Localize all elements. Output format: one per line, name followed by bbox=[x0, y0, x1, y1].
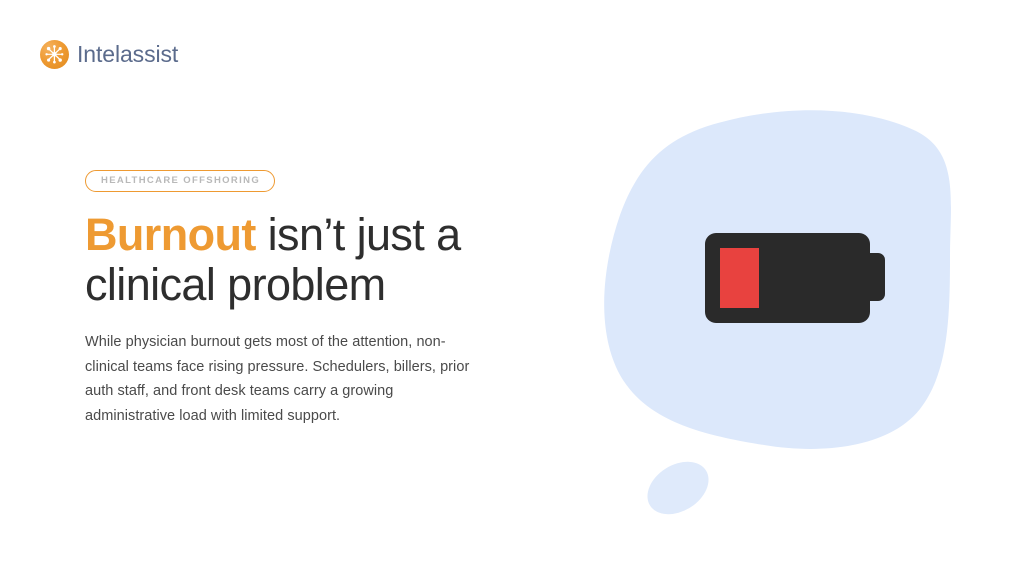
low-battery-illustration bbox=[598, 105, 998, 535]
page-title: Burnout isn’t just a clinical problem bbox=[85, 210, 485, 311]
body-paragraph: While physician burnout gets most of the… bbox=[85, 330, 483, 428]
small-blob-shape bbox=[638, 451, 718, 525]
network-nodes-icon bbox=[40, 40, 69, 69]
brand-name: Intelassist bbox=[77, 43, 178, 66]
hero-text-column: HEALTHCARE OFFSHORING Burnout isn’t just… bbox=[85, 170, 505, 428]
brand-logo[interactable]: Intelassist bbox=[40, 40, 178, 69]
slide-canvas: Intelassist HEALTHCARE OFFSHORING Burnou… bbox=[0, 0, 1024, 576]
status-badge: HEALTHCARE OFFSHORING bbox=[85, 170, 275, 192]
headline-accent-word: Burnout bbox=[85, 209, 256, 260]
battery-charge-level bbox=[720, 248, 759, 308]
